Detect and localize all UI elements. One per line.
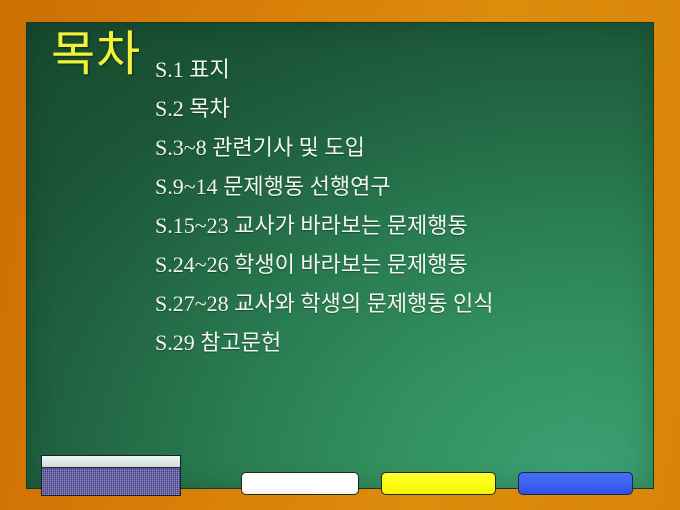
chalk-stick-yellow-icon: [381, 472, 496, 495]
eraser-icon: [41, 455, 181, 496]
page-title: 목차: [51, 31, 141, 79]
list-item: S.27~28 교사와 학생의 문제행동 인식: [155, 284, 494, 323]
eraser-body: [42, 469, 180, 495]
list-item: S.29 참고문헌: [155, 323, 494, 362]
chalk-stick-blue-icon: [518, 472, 633, 495]
list-item: S.9~14 문제행동 선행연구: [155, 167, 494, 206]
chalk-stick-white-icon: [241, 472, 359, 495]
list-item: S.2 목차: [155, 89, 494, 128]
list-item: S.1 표지: [155, 50, 494, 89]
list-item: S.15~23 교사가 바라보는 문제행동: [155, 206, 494, 245]
table-of-contents-list: S.1 표지 S.2 목차 S.3~8 관련기사 및 도입 S.9~14 문제행…: [155, 50, 494, 362]
presentation-slide: 목차 S.1 표지 S.2 목차 S.3~8 관련기사 및 도입 S.9~14 …: [0, 0, 680, 510]
list-item: S.3~8 관련기사 및 도입: [155, 128, 494, 167]
eraser-felt-strip: [42, 456, 180, 468]
list-item: S.24~26 학생이 바라보는 문제행동: [155, 245, 494, 284]
chalkboard: 목차 S.1 표지 S.2 목차 S.3~8 관련기사 및 도입 S.9~14 …: [26, 22, 654, 489]
